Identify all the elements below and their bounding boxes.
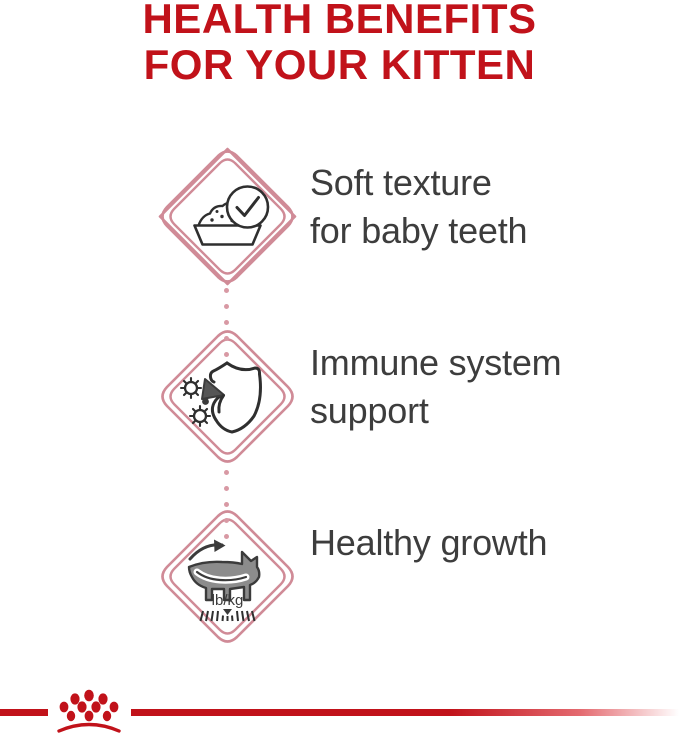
connector-dot <box>224 304 229 309</box>
benefit-item-immune-system: Immune system support <box>0 325 679 505</box>
connector-dots-1 <box>224 288 229 368</box>
footer-rule-left <box>0 709 48 716</box>
connector-dot <box>224 534 229 539</box>
connector-dot <box>224 288 229 293</box>
footer <box>0 680 679 740</box>
connector-dot <box>224 486 229 491</box>
scale-unit-label: lb/kg <box>212 592 244 609</box>
benefit-label-line-1: Immune system <box>310 339 670 387</box>
royal-canin-crown-logo <box>50 688 128 734</box>
benefit-item-soft-texture: Soft texture for baby teeth <box>0 145 679 325</box>
page-title-line-2: FOR YOUR KITTEN <box>0 42 679 88</box>
benefit-label-immune-system: Immune system support <box>310 339 670 435</box>
connector-dot <box>224 470 229 475</box>
benefit-label-healthy-growth: Healthy growth <box>310 519 670 567</box>
connector-dots-2 <box>224 470 229 550</box>
benefits-list: Soft texture for baby teeth <box>0 145 679 685</box>
connector-dot <box>224 518 229 523</box>
page-title-line-1: HEALTH BENEFITS <box>0 0 679 42</box>
benefit-label-line-2: for baby teeth <box>310 207 670 255</box>
connector-dot <box>224 336 229 341</box>
connector-dot <box>224 502 229 507</box>
page-title: HEALTH BENEFITS FOR YOUR KITTEN <box>0 0 679 88</box>
connector-dot <box>224 352 229 357</box>
food-bowl-check-icon <box>156 145 299 288</box>
connector-dot <box>224 320 229 325</box>
benefit-label-soft-texture: Soft texture for baby teeth <box>310 159 670 255</box>
benefit-item-healthy-growth: lb/kg Healt <box>0 505 679 685</box>
benefit-label-line-2: support <box>310 387 670 435</box>
benefit-label-line-1: Soft texture <box>310 159 670 207</box>
footer-rule-right <box>131 709 679 716</box>
benefit-label-line-1: Healthy growth <box>310 519 670 567</box>
